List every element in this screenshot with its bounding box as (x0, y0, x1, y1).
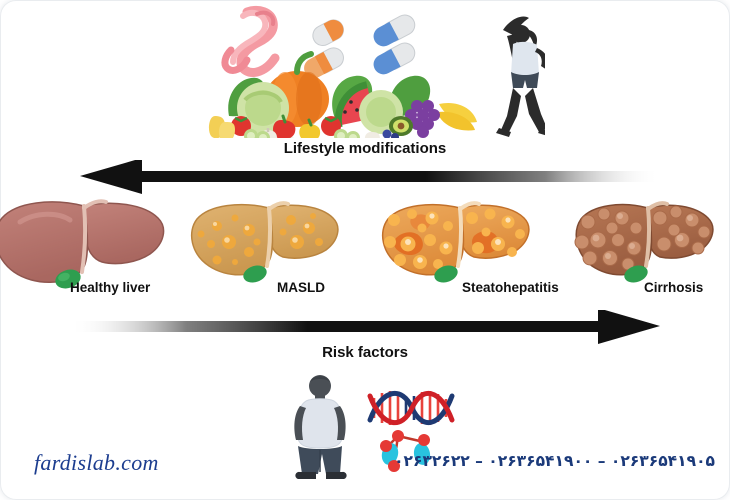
risk-icon-cluster (280, 372, 480, 490)
contact-phone-numbers: ۰۲۶۳۶۵۴۱۹۰۵ – ۰۲۶۳۶۵۴۱۹۰۰ – ۰۲۶۳۲۶۲۲ (355, 452, 715, 470)
infographic-canvas: Lifestyle modifications (0, 0, 730, 500)
risk-factors-arrow (70, 310, 660, 346)
capsule-icon (301, 16, 347, 81)
stage-label-cirrhosis: Cirrhosis (644, 280, 703, 295)
risk-factors-caption: Risk factors (0, 344, 730, 361)
lifestyle-arrow (80, 160, 660, 196)
stage-steatohepatitis: Steatohepatitis (378, 196, 568, 308)
capsule-icon (370, 12, 418, 78)
lifestyle-modifications-caption: Lifestyle modifications (0, 140, 730, 157)
stage-label-healthy-liver: Healthy liver (70, 280, 150, 295)
stomach-icon (225, 10, 275, 72)
stage-cirrhosis: Cirrhosis (572, 196, 730, 308)
stage-label-masld: MASLD (277, 280, 325, 295)
watermark-fardislab[interactable]: fardislab.com (34, 450, 159, 476)
liver-progression-row: Healthy liver (0, 196, 730, 308)
stage-healthy-liver: Healthy liver (0, 196, 182, 308)
lifestyle-icon-cluster (185, 4, 545, 138)
exercise-person-icon (496, 17, 545, 138)
stage-label-steatohepatitis: Steatohepatitis (462, 280, 559, 295)
stage-masld: MASLD (187, 196, 377, 308)
dna-icon (370, 391, 452, 425)
obese-person-icon (294, 375, 346, 479)
vegetables-icon (209, 54, 477, 138)
